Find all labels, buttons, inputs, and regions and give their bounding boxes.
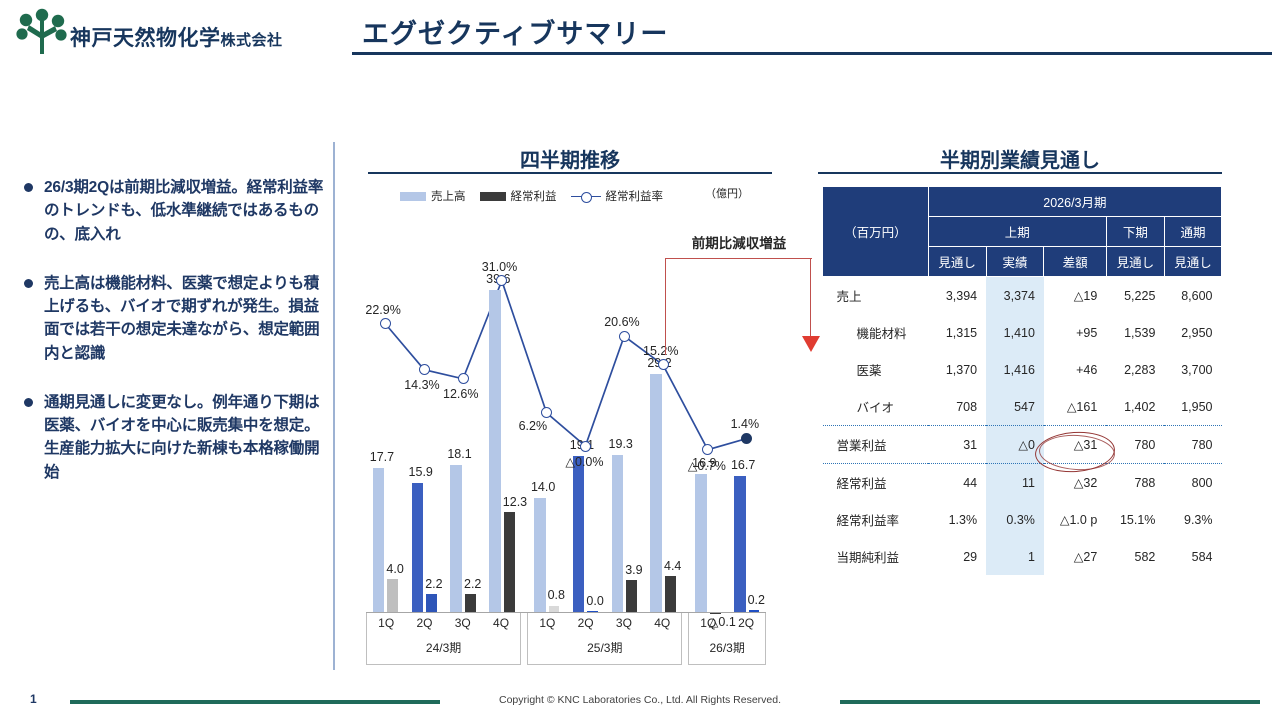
table-row: 営業利益31△0△31780780 — [823, 426, 1222, 464]
table-row: 機能材料1,3151,410+951,5392,950 — [823, 314, 1222, 351]
profit-margin-label: △0.7% — [688, 458, 726, 473]
page-number: 1 — [30, 692, 37, 706]
x-axis-quarter-label: 1Q — [367, 616, 405, 630]
sales-bar — [734, 476, 746, 612]
legend-label: 経常利益率 — [606, 188, 664, 204]
sales-bar — [695, 474, 707, 612]
profit-margin-label: 14.3% — [404, 378, 439, 392]
table-cell: 0.3% — [986, 501, 1044, 538]
chart-section-title: 四半期推移 — [360, 144, 780, 173]
table-cell: 584 — [1164, 538, 1221, 575]
legend-swatch-line-icon — [571, 191, 601, 202]
table-sub-header-h2-forecast: 見通し — [1106, 247, 1164, 277]
table-cell: △1.0 p — [1044, 501, 1106, 538]
table-group-header-second-half: 下期 — [1106, 217, 1164, 247]
footer-rule-left — [70, 700, 440, 704]
profit-margin-point — [741, 433, 752, 444]
profit-margin-point — [458, 373, 469, 384]
title-divider — [352, 52, 1272, 55]
table-cell: 9.3% — [1164, 501, 1221, 538]
bullet-text: 売上高は機能材料、医薬で想定よりも積上げるも、バイオで期ずれが発生。損益面では若… — [44, 272, 324, 365]
table-header: （百万円） 2026/3月期 上期 下期 通期 見通し 実績 差額 見通し 見通… — [823, 187, 1222, 277]
table-cell: 582 — [1106, 538, 1164, 575]
table-row: 当期純利益291△27582584 — [823, 538, 1222, 575]
profit-margin-point — [619, 331, 630, 342]
legend-item-ordinary-profit: 経常利益 — [480, 188, 557, 204]
table-cell: 1.3% — [928, 501, 986, 538]
table-cell: 1,410 — [986, 314, 1044, 351]
legend-item-profit-margin: 経常利益率 — [571, 188, 664, 204]
sales-bar — [412, 483, 424, 612]
table-cell: 1,539 — [1106, 314, 1164, 351]
bullet-dot-icon — [24, 398, 33, 407]
sales-bar — [534, 498, 546, 612]
quarterly-trend-chart: 17.74.015.92.218.12.239.612.314.00.819.1… — [366, 210, 766, 665]
sales-bar-label: 17.7 — [370, 450, 394, 464]
sales-bar — [489, 290, 501, 612]
x-axis-quarter-label: 2Q — [405, 616, 443, 630]
x-axis-period-label: 26/3期 — [689, 639, 765, 656]
x-axis-quarter-label: 2Q — [566, 616, 604, 630]
chart-unit-label: （億円） — [705, 185, 749, 201]
x-axis-quarter-label: 3Q — [605, 616, 643, 630]
annotation-label: 前期比減収増益 — [649, 232, 829, 252]
copyright-text: Copyright © KNC Laboratories Co., Ltd. A… — [470, 694, 810, 706]
vertical-divider — [333, 142, 335, 670]
annotation-bracket — [665, 258, 812, 355]
legend-label: 売上高 — [431, 188, 466, 204]
footer-rule-right — [840, 700, 1260, 704]
sales-bar — [373, 468, 385, 612]
row-label: 機能材料 — [823, 314, 929, 351]
annotation-vertical-line — [810, 258, 811, 338]
table-unit-header: （百万円） — [823, 187, 929, 277]
table-cell: 44 — [928, 464, 986, 502]
bullet-dot-icon — [24, 183, 33, 192]
row-label: バイオ — [823, 388, 929, 426]
profit-margin-label: 22.9% — [365, 303, 400, 317]
table-cell: 800 — [1164, 464, 1221, 502]
ordinary-profit-bar — [426, 594, 437, 612]
company-name-suffix: 株式会社 — [221, 32, 283, 49]
row-label: 売上 — [823, 277, 929, 315]
ordinary-profit-bar — [626, 580, 637, 612]
half-year-forecast-table: （百万円） 2026/3月期 上期 下期 通期 見通し 実績 差額 見通し 見通… — [822, 186, 1222, 575]
sales-bar-label: 15.9 — [409, 465, 433, 479]
x-axis-quarter-label: 1Q — [689, 616, 727, 630]
bullet-text: 通期見通しに変更なし。例年通り下期は医薬、バイオを中心に販売集中を想定。生産能力… — [44, 391, 324, 484]
chart-legend: 売上高 経常利益 経常利益率 — [400, 188, 663, 204]
row-label: 医薬 — [823, 351, 929, 388]
table-row: 経常利益率1.3%0.3%△1.0 p15.1%9.3% — [823, 501, 1222, 538]
page-title: エグゼクティブサマリー — [362, 12, 668, 51]
ordinary-profit-bar-label: 0.8 — [548, 588, 565, 602]
bullet-dot-icon — [24, 279, 33, 288]
table-cell: 780 — [1164, 426, 1221, 464]
profit-margin-point — [380, 318, 391, 329]
sales-bar-label: 18.1 — [447, 447, 471, 461]
table-cell: 780 — [1106, 426, 1164, 464]
table-cell: +95 — [1044, 314, 1106, 351]
table-cell: △27 — [1044, 538, 1106, 575]
ordinary-profit-bar-label: 4.4 — [664, 559, 681, 573]
x-axis-group-26/3期: 1Q2Q26/3期 — [688, 613, 766, 665]
x-axis-quarter-label: 4Q — [482, 616, 520, 630]
row-label: 経常利益率 — [823, 501, 929, 538]
table-cell: 1,416 — [986, 351, 1044, 388]
ordinary-profit-bar — [665, 576, 676, 612]
summary-bullet-list: 26/3期2Qは前期比減収増益。経常利益率のトレンドも、低水準継続ではあるものの… — [24, 176, 324, 510]
chart-title-divider — [368, 172, 772, 174]
row-label: 当期純利益 — [823, 538, 929, 575]
table-cell: 708 — [928, 388, 986, 426]
table-group-header-full-year: 通期 — [1164, 217, 1221, 247]
chart-x-axis-labels: 1Q2Q3Q4Q24/3期1Q2Q3Q4Q25/3期1Q2Q26/3期 — [366, 613, 766, 665]
ordinary-profit-bar-label: 0.0 — [586, 594, 603, 608]
ordinary-profit-bar-label: 3.9 — [625, 563, 642, 577]
table-row: 医薬1,3701,416+462,2833,700 — [823, 351, 1222, 388]
list-item: 通期見通しに変更なし。例年通り下期は医薬、バイオを中心に販売集中を想定。生産能力… — [24, 391, 324, 484]
table-row: 売上3,3943,374△195,2258,600 — [823, 277, 1222, 315]
table-cell: 3,394 — [928, 277, 986, 315]
table-cell: 547 — [986, 388, 1044, 426]
ordinary-profit-bar-label: 12.3 — [503, 495, 527, 509]
table-section-title: 半期別業績見通し — [810, 144, 1230, 173]
profit-margin-label: 12.6% — [443, 387, 478, 401]
profit-margin-point — [702, 444, 713, 455]
profit-margin-point — [419, 364, 430, 375]
legend-swatch-bar-icon — [480, 192, 506, 201]
table-cell: +46 — [1044, 351, 1106, 388]
row-label: 営業利益 — [823, 426, 929, 464]
table-body: 売上3,3943,374△195,2258,600機能材料1,3151,410+… — [823, 277, 1222, 576]
profit-margin-point — [580, 441, 591, 452]
table-cell: 1,370 — [928, 351, 986, 388]
profit-margin-point — [658, 359, 669, 370]
company-name: 神戸天然物化学株式会社 — [70, 22, 283, 52]
table-cell: △19 — [1044, 277, 1106, 315]
row-label: 経常利益 — [823, 464, 929, 502]
list-item: 売上高は機能材料、医薬で想定よりも積上げるも、バイオで期ずれが発生。損益面では若… — [24, 272, 324, 365]
table-cell: 5,225 — [1106, 277, 1164, 315]
table-cell: 2,283 — [1106, 351, 1164, 388]
chart-plot-area: 17.74.015.92.218.12.239.612.314.00.819.1… — [366, 210, 766, 612]
ordinary-profit-bar — [465, 594, 476, 612]
table-cell: 1,315 — [928, 314, 986, 351]
x-axis-quarter-label: 3Q — [444, 616, 482, 630]
ordinary-profit-bar-label: 2.2 — [464, 577, 481, 591]
ordinary-profit-bar-label: 2.2 — [425, 577, 442, 591]
table-cell: 1 — [986, 538, 1044, 575]
bullet-text: 26/3期2Qは前期比減収増益。経常利益率のトレンドも、低水準継続ではあるものの… — [44, 176, 324, 246]
x-axis-group-25/3期: 1Q2Q3Q4Q25/3期 — [527, 613, 682, 665]
profit-margin-label: △0.0% — [565, 454, 603, 469]
profit-margin-point — [541, 407, 552, 418]
table-cell: △161 — [1044, 388, 1106, 426]
ordinary-profit-bar — [504, 512, 515, 612]
x-axis-quarter-label: 1Q — [528, 616, 566, 630]
sales-bar — [573, 456, 585, 612]
annotation-arrow-icon — [802, 336, 820, 352]
ordinary-profit-bar-label: 4.0 — [386, 562, 403, 576]
company-logo-icon — [14, 8, 70, 56]
x-axis-period-label: 24/3期 — [367, 639, 520, 656]
profit-margin-label: 20.6% — [604, 315, 639, 329]
table-cell: 8,600 — [1164, 277, 1221, 315]
legend-item-sales: 売上高 — [400, 188, 466, 204]
x-axis-group-24/3期: 1Q2Q3Q4Q24/3期 — [366, 613, 521, 665]
table-sub-header-actual: 実績 — [986, 247, 1044, 277]
sales-bar — [650, 374, 662, 612]
table-cell: 29 — [928, 538, 986, 575]
ordinary-profit-bar-label: 0.2 — [748, 593, 765, 607]
table-cell: 2,950 — [1164, 314, 1221, 351]
list-item: 26/3期2Qは前期比減収増益。経常利益率のトレンドも、低水準継続ではあるものの… — [24, 176, 324, 246]
ordinary-profit-bar — [387, 579, 398, 612]
table-sub-header-forecast: 見通し — [928, 247, 986, 277]
legend-label: 経常利益 — [511, 188, 557, 204]
table-cell: 788 — [1106, 464, 1164, 502]
table-title-divider — [818, 172, 1222, 174]
table-group-header-first-half: 上期 — [928, 217, 1106, 247]
company-name-main: 神戸天然物化学 — [70, 27, 221, 50]
table-cell: 15.1% — [1106, 501, 1164, 538]
table-cell: 3,374 — [986, 277, 1044, 315]
table-cell: 11 — [986, 464, 1044, 502]
table-sub-header-difference: 差額 — [1044, 247, 1106, 277]
legend-swatch-bar-icon — [400, 192, 426, 201]
table-cell: 31 — [928, 426, 986, 464]
x-axis-quarter-label: 2Q — [727, 616, 765, 630]
profit-margin-label: 31.0% — [482, 260, 517, 274]
profit-margin-label: 1.4% — [731, 417, 760, 431]
sales-bar-label: 14.0 — [531, 480, 555, 494]
table-sub-header-fy-forecast: 見通し — [1164, 247, 1221, 277]
table-row: バイオ708547△1611,4021,950 — [823, 388, 1222, 426]
table-cell: 1,950 — [1164, 388, 1221, 426]
table-cell: 3,700 — [1164, 351, 1221, 388]
table-row: 経常利益4411△32788800 — [823, 464, 1222, 502]
table-fiscal-year-header: 2026/3月期 — [928, 187, 1221, 217]
profit-margin-label: 6.2% — [519, 419, 548, 433]
sales-bar — [612, 455, 624, 612]
x-axis-period-label: 25/3期 — [528, 639, 681, 656]
table-cell: 1,402 — [1106, 388, 1164, 426]
sales-bar-label: 16.7 — [731, 458, 755, 472]
sales-bar — [450, 465, 462, 612]
x-axis-quarter-label: 4Q — [643, 616, 681, 630]
sales-bar-label: 19.3 — [609, 437, 633, 451]
